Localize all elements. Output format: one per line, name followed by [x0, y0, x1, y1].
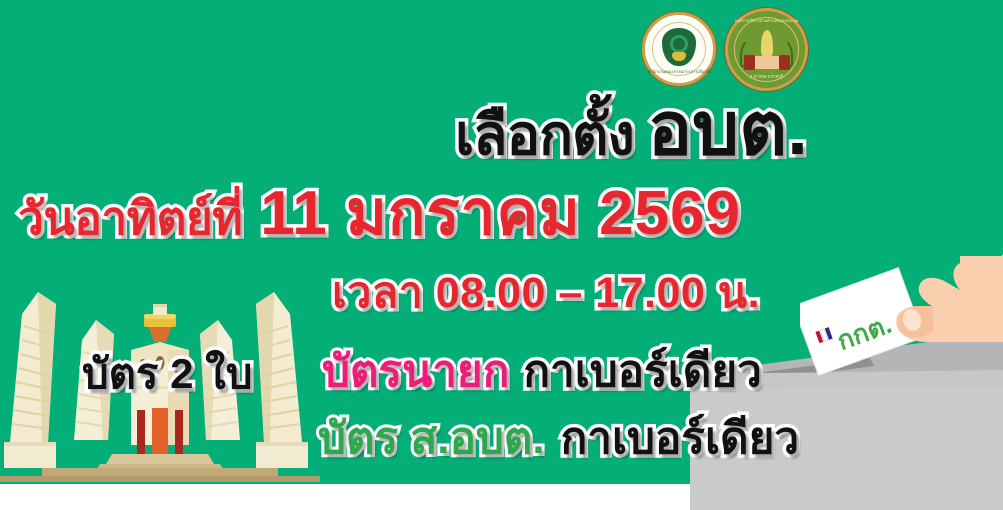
- mayor-ballot-type: บัตรนายก: [322, 350, 509, 394]
- sao-seal-caption-bottom: อ.ปากท่อ จ.ราชบุรี: [732, 75, 801, 80]
- poster-headline: เลือกตั้งอบต.: [455, 92, 808, 166]
- emblem-group: สำนักงานคณะกรรมการการเลือกตั้ง องค์การบร…: [640, 6, 820, 86]
- election-announcement-poster: กกต. สำนักงานคณะกรรมการการเลือกตั้ง องค์…: [0, 0, 1003, 510]
- headline-prefix: เลือกตั้ง: [455, 107, 634, 163]
- mayor-ballot-instruction: กาเบอร์เดียว: [523, 350, 761, 394]
- ect-seal-caption: สำนักงานคณะกรรมการการเลือกตั้ง: [648, 70, 711, 74]
- ballot-count-label: บัตร 2 ใบ: [82, 353, 252, 395]
- hand-casting-ballot-illustration: กกต.: [800, 250, 1003, 390]
- council-ballot-line: บัตร ส.อบต.กาเบอร์เดียว: [318, 417, 799, 461]
- headline-main: อบต.: [648, 92, 808, 166]
- handshake-icon: [748, 56, 786, 69]
- wai-gesture-icon: [761, 30, 773, 57]
- date-value: 11 มกราคม 2569: [260, 183, 741, 245]
- time-value: เวลา 08.00 – 17.00 น.: [332, 269, 760, 317]
- election-time-line: เวลา 08.00 – 17.00 น.: [332, 272, 760, 315]
- council-ballot-type: บัตร ส.อบต.: [318, 417, 545, 461]
- council-ballot-instruction: กาเบอร์เดียว: [561, 417, 799, 461]
- election-commission-seal-icon: สำนักงานคณะกรรมการการเลือกตั้ง: [642, 12, 716, 86]
- sao-seal-caption-top: องค์การบริหารส่วนตำบลหนองกระทุ่ม: [732, 19, 801, 23]
- ballot-count-value: บัตร 2 ใบ: [82, 350, 252, 397]
- sao-seal-icon: องค์การบริหารส่วนตำบลหนองกระทุ่ม อ.ปากท่…: [725, 8, 808, 91]
- date-weekday-label: วันอาทิตย์ที่: [18, 195, 242, 241]
- mayor-ballot-line: บัตรนายกกาเบอร์เดียว: [322, 350, 762, 394]
- election-date-line: วันอาทิตย์ที่11 มกราคม 2569: [18, 183, 741, 245]
